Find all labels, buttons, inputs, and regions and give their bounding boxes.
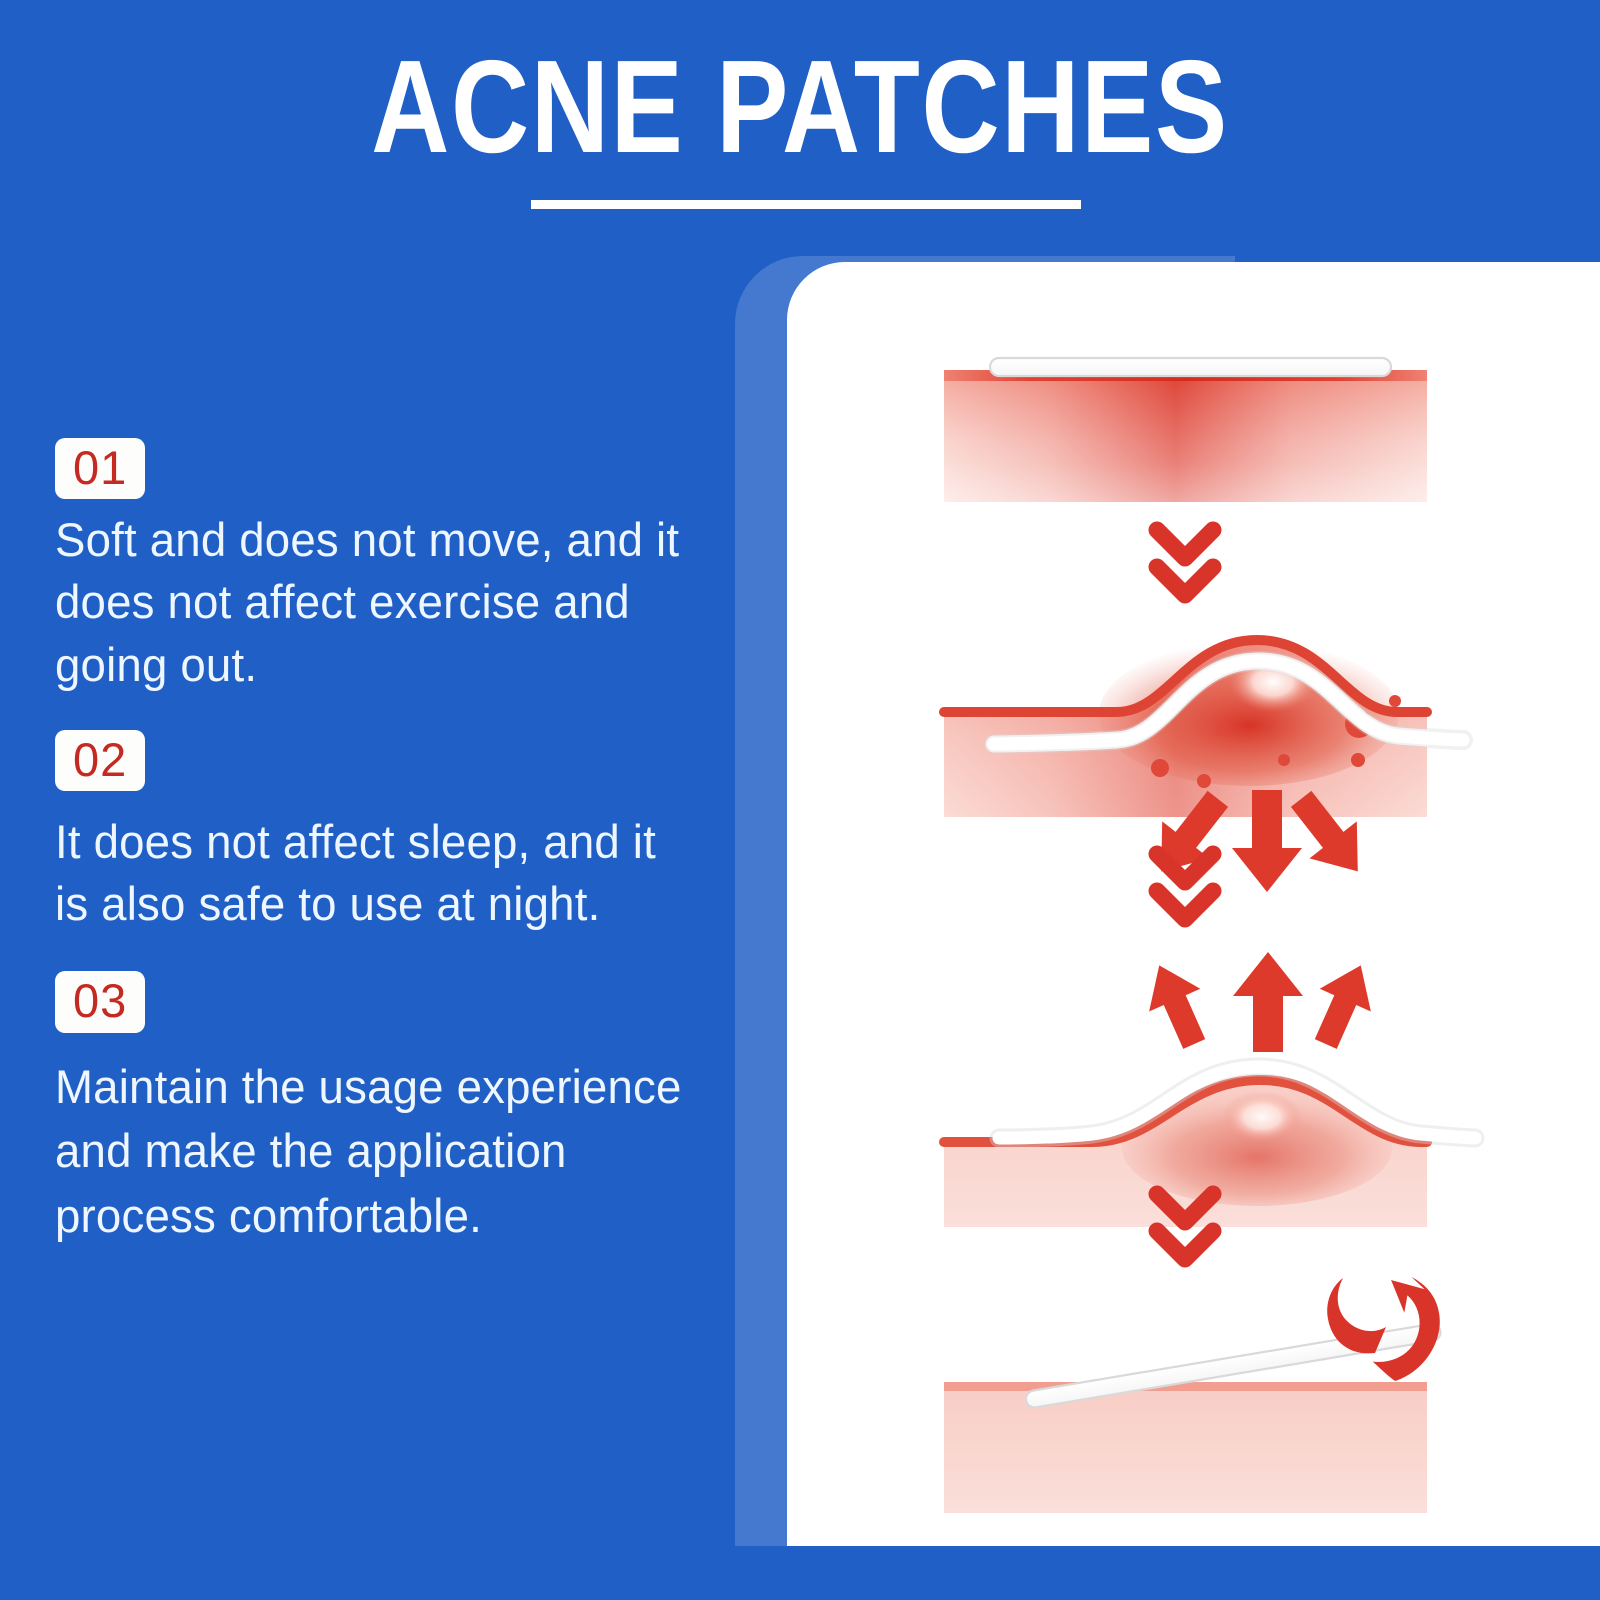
panel-3-drawing-out bbox=[944, 952, 1475, 1227]
infographic-canvas: ACNE PATCHES 01 Soft and does not move, … bbox=[0, 0, 1600, 1600]
page-title: ACNE PATCHES bbox=[144, 38, 1456, 177]
feature-number-badge-01: 01 bbox=[55, 438, 145, 499]
double-chevron-down-icon-1 bbox=[1157, 530, 1213, 595]
title-underline bbox=[531, 200, 1081, 209]
panel-4-peeled-off bbox=[944, 1277, 1600, 1513]
panel-1-flat-skin bbox=[944, 358, 1427, 502]
feature-item-02: 02 It does not affect sleep, and it is a… bbox=[55, 730, 715, 936]
illustration-panels bbox=[787, 262, 1600, 1546]
feature-number-badge-03: 03 bbox=[55, 971, 145, 1032]
feature-item-01: 01 Soft and does not move, and it does n… bbox=[55, 438, 715, 696]
feature-item-03: 03 Maintain the usage experience and mak… bbox=[55, 971, 715, 1249]
feature-number-badge-02: 02 bbox=[55, 730, 145, 791]
illustration-card bbox=[787, 262, 1600, 1546]
feature-text-01: Soft and does not move, and it does not … bbox=[55, 509, 695, 695]
feature-text-03: Maintain the usage experience and make t… bbox=[55, 1055, 695, 1250]
page-title-block: ACNE PATCHES bbox=[0, 38, 1600, 177]
feature-list: 01 Soft and does not move, and it does n… bbox=[55, 438, 715, 1275]
extraction-arrows-up bbox=[1134, 952, 1387, 1055]
feature-text-02: It does not affect sleep, and it is also… bbox=[55, 811, 695, 935]
curved-peel-arrow-icon bbox=[1327, 1277, 1600, 1381]
